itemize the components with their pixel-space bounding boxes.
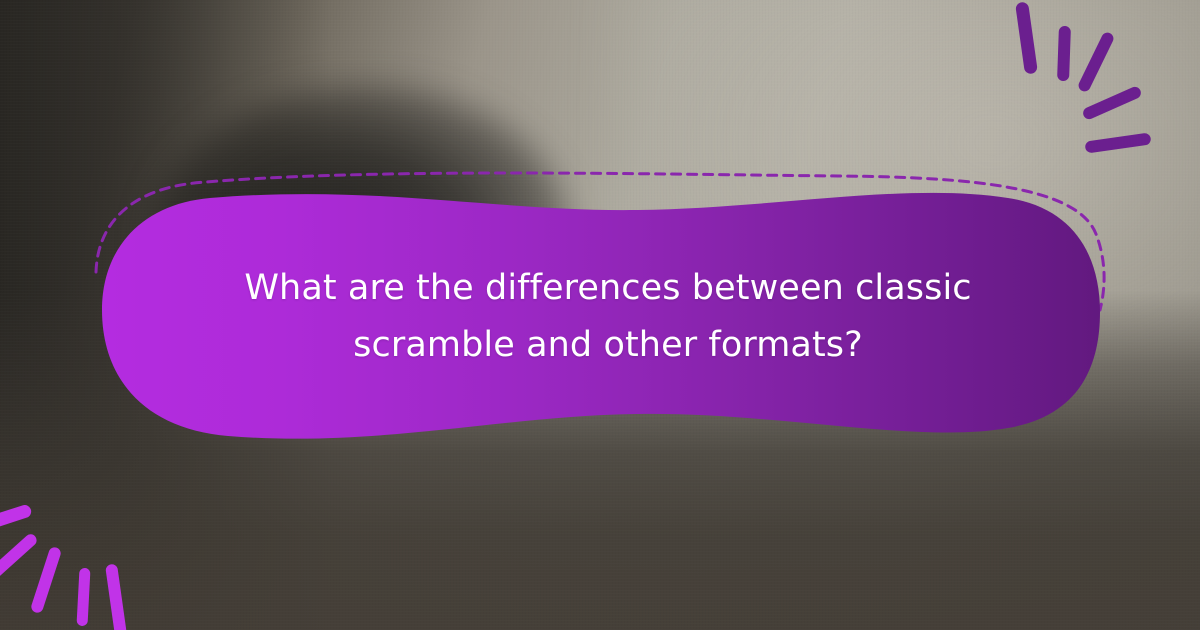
sparkle-burst-bottom-left-ray-2 — [0, 532, 39, 582]
question-headline: What are the differences between classic… — [228, 260, 988, 373]
sparkle-burst-bottom-left-ray-3 — [30, 546, 62, 614]
social-card-canvas: What are the differences between classic… — [0, 0, 1200, 630]
sparkle-burst-top-right-icon — [990, 0, 1180, 164]
sparkle-burst-bottom-left-icon — [0, 468, 186, 630]
sparkle-burst-bottom-left-ray-4 — [76, 568, 90, 626]
sparkle-burst-top-right-ray-4 — [1081, 85, 1143, 121]
sparkle-burst-top-right-ray-3 — [1077, 31, 1116, 94]
question-card: What are the differences between classic… — [78, 160, 1118, 460]
sparkle-burst-top-right-ray-1 — [1015, 1, 1038, 74]
sparkle-burst-bottom-left-ray-1 — [0, 503, 33, 536]
sparkle-burst-top-right-ray-5 — [1084, 132, 1151, 153]
sparkle-burst-bottom-left-ray-5 — [105, 564, 127, 630]
sparkle-burst-top-right-ray-2 — [1057, 26, 1071, 81]
